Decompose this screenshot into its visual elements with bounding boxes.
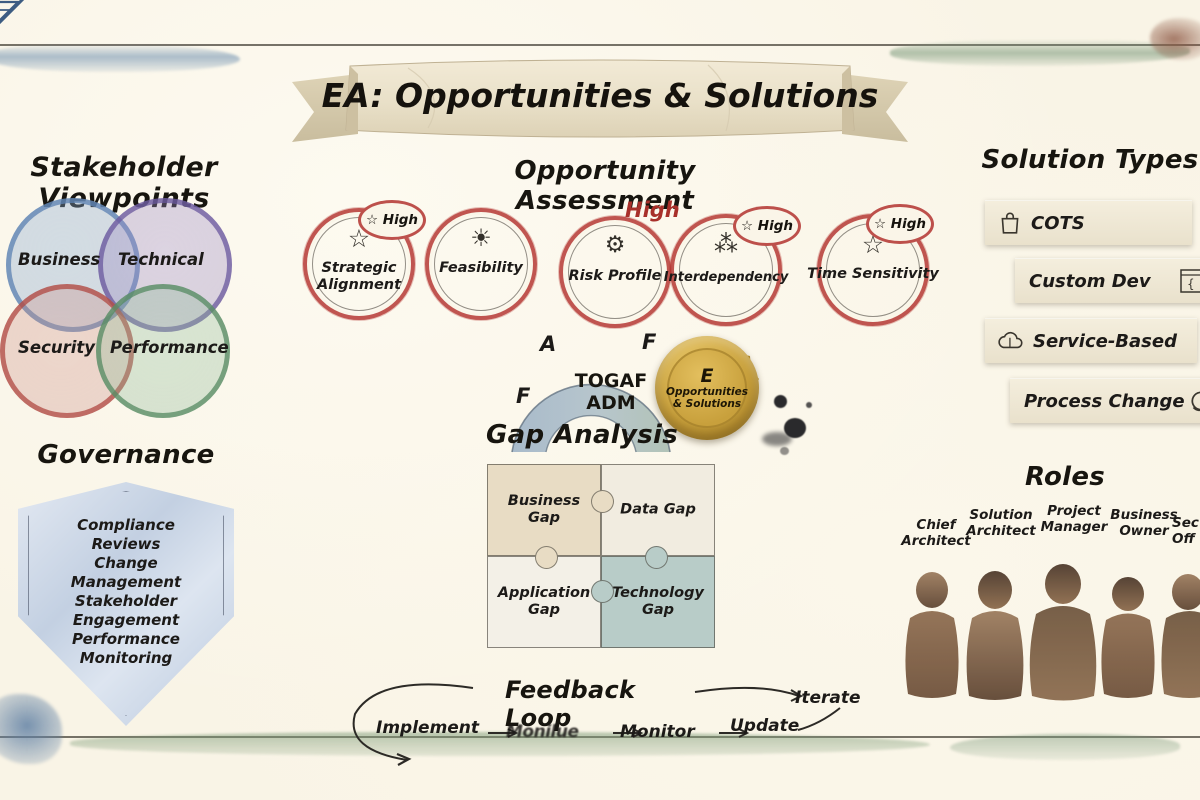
gear-icon: ⚙ [559, 232, 671, 258]
assessment-heading: Opportunity Assessment [440, 156, 770, 216]
gap-analysis-puzzle: Business Gap Data Gap Application Gap Te… [487, 464, 715, 648]
venn-label-business: Business [18, 250, 100, 269]
solution-type-process-change[interactable]: Process Change [1010, 378, 1200, 423]
solution-type-service-based[interactable]: Service-Based [985, 318, 1197, 363]
governance-line: Compliance [18, 516, 234, 535]
code-window-icon: { } [1180, 268, 1200, 294]
assessment-label: Interdependency [658, 270, 794, 287]
puzzle-label: Application Gap [492, 585, 596, 619]
governance-line: Performance [18, 630, 234, 649]
governance-list: Compliance Reviews Change Management Sta… [18, 516, 234, 668]
rating-badge-interdependency: ☆ High [733, 206, 801, 246]
adm-core-label: TOGAF ADM [556, 370, 666, 414]
ink-blot [780, 447, 789, 455]
governance-line: Management [18, 573, 234, 592]
corner-ornament-icon [0, 0, 42, 46]
sun-icon: ☀ [425, 224, 537, 252]
puzzle-label: Technology Gap [606, 585, 710, 619]
svg-text:{ }: { } [1187, 277, 1200, 291]
assessment-label: Strategic Alignment [291, 260, 427, 293]
cloud-icon [997, 328, 1025, 354]
puzzle-knob [591, 490, 614, 513]
adm-phase-letter: F [516, 384, 530, 408]
seal-line-2: & Solutions [673, 398, 741, 410]
feedback-step-implement: Implement [376, 718, 479, 738]
refresh-icon [1188, 388, 1200, 414]
page-title: EA: Opportunities & Solutions [288, 76, 912, 116]
solution-type-custom-dev[interactable]: Custom Dev { } [1015, 258, 1200, 303]
puzzle-label: Data Gap [606, 502, 710, 519]
roles-figures-illustration [900, 560, 1200, 738]
governance-heading: Governance [18, 440, 234, 470]
venn-label-security: Security [18, 338, 95, 357]
infographic-canvas: EA: Opportunities & Solutions Stakeholde… [0, 0, 1200, 800]
seal-phase-letter: E [701, 366, 714, 386]
assessment-label: Time Sensitivity [805, 266, 941, 283]
role-label-project-manager: Project Manager [1036, 504, 1112, 535]
governance-shield: Compliance Reviews Change Management Sta… [18, 482, 234, 726]
brown-watercolor-blob [1150, 18, 1200, 60]
ink-splatter [762, 432, 792, 446]
solution-type-cots[interactable]: COTS [985, 200, 1192, 245]
top-rule [0, 44, 1200, 46]
title-banner: EA: Opportunities & Solutions [288, 48, 912, 152]
role-label-solution-architect: Solution Architect [958, 508, 1044, 539]
blue-wash-top-left [0, 44, 240, 72]
solution-label: Custom Dev [1029, 271, 1151, 292]
puzzle-label: Business Gap [492, 493, 596, 527]
solution-label: Process Change [1024, 391, 1185, 412]
rating-badge-time-sensitivity: ☆ High [866, 204, 934, 244]
solution-label: Service-Based [1033, 331, 1177, 352]
seal-line-1: Opportunities [666, 386, 748, 398]
governance-line: Change [18, 554, 234, 573]
solution-types-heading: Solution Types [980, 145, 1200, 175]
feedback-step-2: Monilue [506, 722, 579, 742]
puzzle-piece-application-gap[interactable]: Application Gap [487, 556, 601, 648]
venn-label-performance: Performance [110, 338, 229, 357]
puzzle-piece-business-gap[interactable]: Business Gap [487, 464, 601, 556]
roles-heading: Roles [1000, 462, 1130, 492]
puzzle-piece-technology-gap[interactable]: Technology Gap [601, 556, 715, 648]
puzzle-piece-data-gap[interactable]: Data Gap [601, 464, 715, 556]
assessment-label: Feasibility [413, 260, 549, 277]
gap-analysis-heading: Gap Analysis [462, 420, 702, 450]
governance-line: Engagement [18, 611, 234, 630]
solution-label: COTS [1031, 213, 1085, 234]
role-label-business-owner: Business Owner [1106, 508, 1182, 539]
puzzle-knob [591, 580, 614, 603]
puzzle-knob [535, 546, 558, 569]
role-label-security-officer: Sec Off [1172, 516, 1200, 547]
feedback-step-update: Update [730, 716, 799, 736]
venn-label-technical: Technical [118, 250, 204, 269]
ink-blot [806, 402, 812, 408]
governance-line: Stakeholder [18, 592, 234, 611]
puzzle-knob [645, 546, 668, 569]
feedback-step-monitor: Monitor [620, 722, 695, 742]
stakeholder-venn-diagram: Business Technical Security Performance [0, 198, 240, 410]
rating-badge-strategic-alignment: ☆ High [358, 200, 426, 240]
adm-phase-letter: A [540, 332, 556, 356]
governance-line: Reviews [18, 535, 234, 554]
assessment-item-feasibility[interactable]: ☀ Feasibility [425, 208, 537, 320]
feedback-outcome-iterate: Iterate [795, 688, 861, 708]
ink-blot [774, 395, 787, 408]
seal-text: E Opportunities & Solutions [667, 348, 747, 428]
governance-line: Monitoring [18, 649, 234, 668]
shopping-bag-icon [997, 210, 1023, 236]
